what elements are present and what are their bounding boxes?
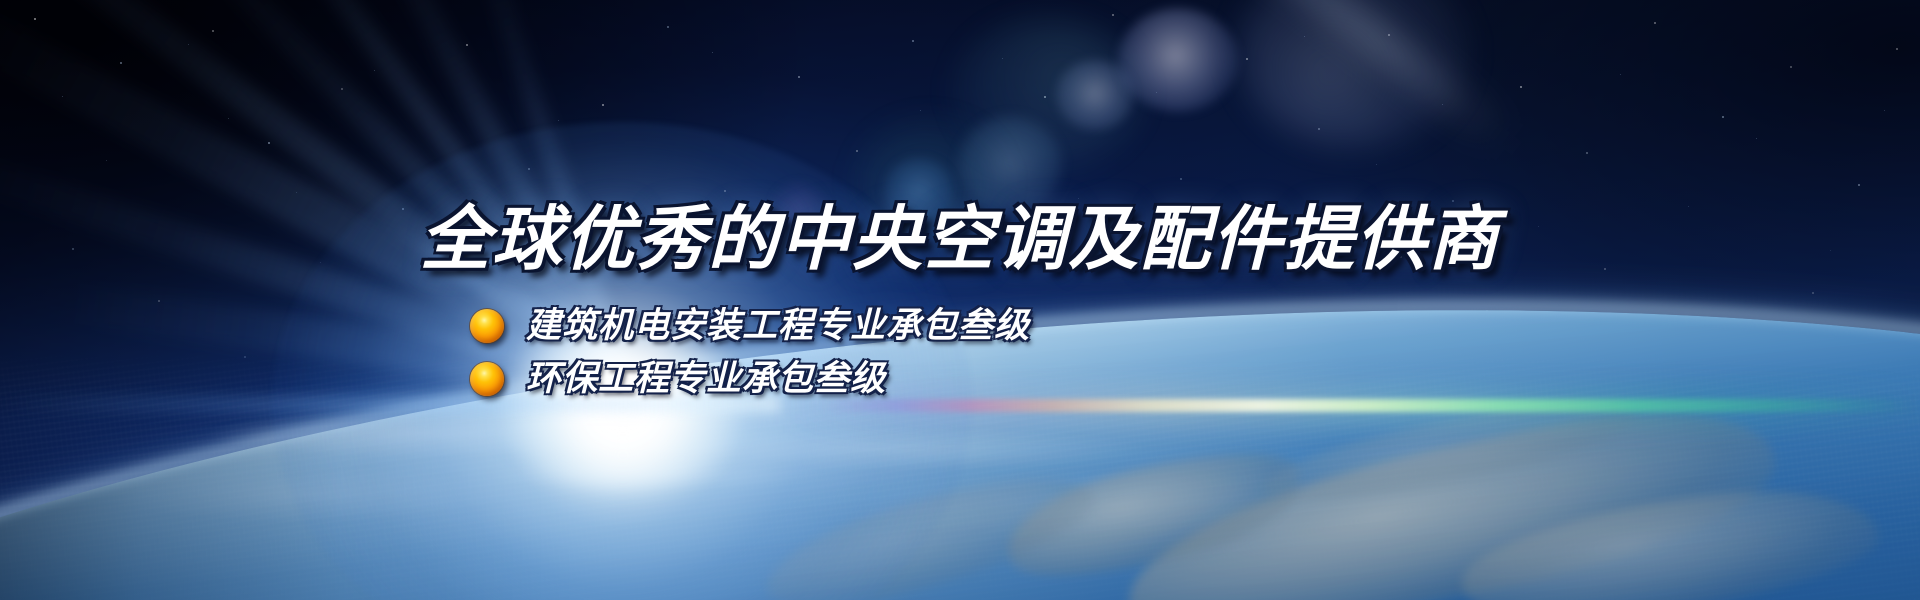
qualification-label: 环保工程专业承包叁级 <box>526 361 886 396</box>
banner-headline: 全球优秀的中央空调及配件提供商 <box>0 204 1920 274</box>
qualification-item: 建筑机电安装工程专业承包叁级 <box>470 308 1030 343</box>
qualification-item: 环保工程专业承包叁级 <box>470 361 1030 396</box>
orange-sphere-bullet-icon <box>470 309 504 343</box>
banner-content: 全球优秀的中央空调及配件提供商 建筑机电安装工程专业承包叁级 环保工程专业承包叁… <box>0 0 1920 600</box>
orange-sphere-bullet-icon <box>470 362 504 396</box>
hero-banner: 全球优秀的中央空调及配件提供商 建筑机电安装工程专业承包叁级 环保工程专业承包叁… <box>0 0 1920 600</box>
qualification-list: 建筑机电安装工程专业承包叁级 环保工程专业承包叁级 <box>470 308 1030 396</box>
qualification-label: 建筑机电安装工程专业承包叁级 <box>526 308 1030 343</box>
